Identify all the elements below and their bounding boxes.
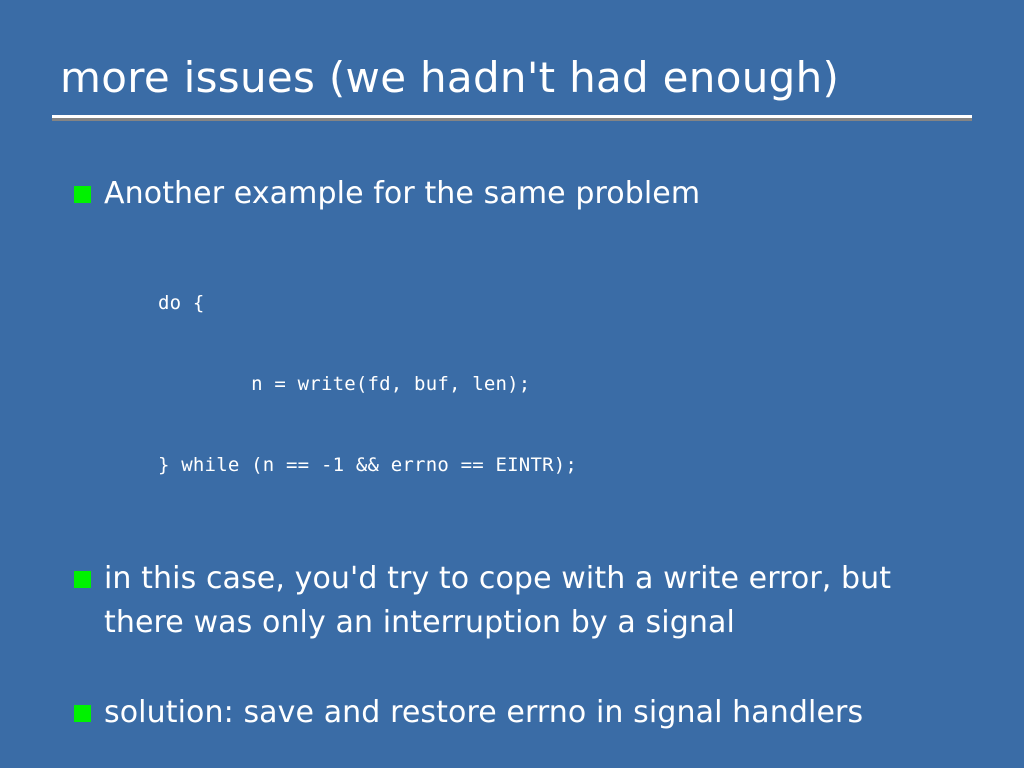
title-rule-shadow: [52, 118, 972, 121]
green-square-bullet-icon: [74, 571, 91, 588]
code-line-1: do {: [158, 290, 974, 317]
bullet-text-1: Another example for the same problem: [104, 172, 934, 216]
bullet-text-3: solution: save and restore errno in sign…: [104, 691, 934, 735]
spacer-between-bullets: [74, 645, 974, 691]
spacer-before-code: [74, 216, 974, 236]
bullet-item-2: in this case, you'd try to cope with a w…: [74, 557, 974, 645]
bullet-item-3: solution: save and restore errno in sign…: [74, 691, 974, 735]
slide-title: more issues (we hadn't had enough): [52, 52, 972, 104]
green-square-bullet-icon: [74, 705, 91, 722]
presentation-slide: more issues (we hadn't had enough) Anoth…: [0, 0, 1024, 768]
spacer-after-code: [74, 533, 974, 557]
code-line-2: n = write(fd, buf, len);: [158, 371, 974, 398]
title-block: more issues (we hadn't had enough): [52, 52, 972, 104]
green-square-bullet-icon: [74, 186, 91, 203]
slide-body: Another example for the same problem do …: [74, 172, 974, 735]
code-line-3: } while (n == -1 && errno == EINTR);: [158, 452, 974, 479]
bullet-text-2: in this case, you'd try to cope with a w…: [104, 557, 934, 645]
title-underline-rule: [52, 115, 972, 121]
bullet-item-1: Another example for the same problem: [74, 172, 974, 216]
code-snippet: do { n = write(fd, buf, len); } while (n…: [158, 236, 974, 533]
